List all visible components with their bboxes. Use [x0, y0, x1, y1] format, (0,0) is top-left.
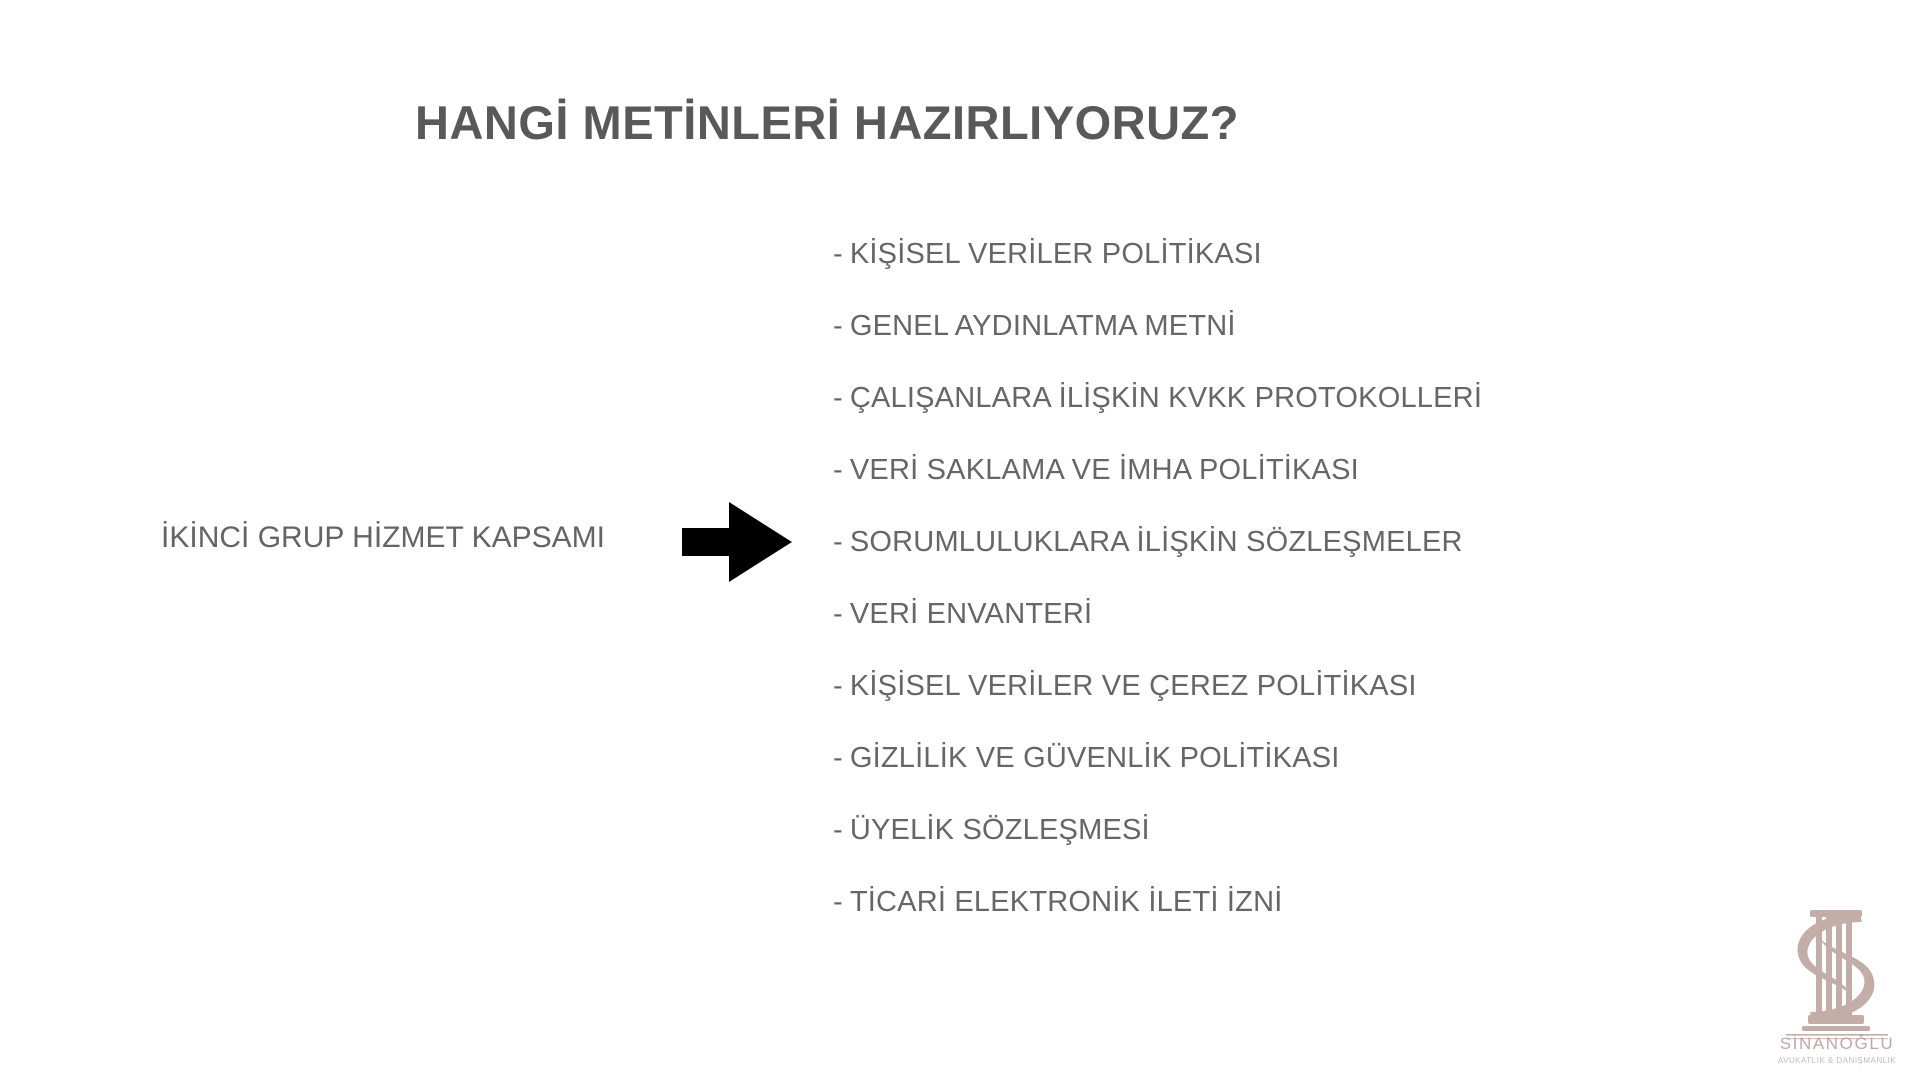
list-item-label: KİŞİSEL VERİLER VE ÇEREZ POLİTİKASI [850, 670, 1417, 702]
list-bullet: - [833, 600, 843, 629]
list-item-label: GENEL AYDINLATMA METNİ [850, 310, 1236, 342]
list-item-label: ÇALIŞANLARA İLİŞKİN KVKK PROTOKOLLERİ [850, 382, 1482, 414]
list-item-label: GİZLİLİK VE GÜVENLİK POLİTİKASI [850, 742, 1340, 774]
list-bullet: - [833, 744, 843, 773]
list-item: -GİZLİLİK VE GÜVENLİK POLİTİKASI [833, 744, 1833, 773]
list-item-label: TİCARİ ELEKTRONİK İLETİ İZNİ [850, 886, 1283, 918]
list-item-label: SORUMLULUKLARA İLİŞKİN SÖZLEŞMELER [850, 526, 1463, 558]
list-bullet: - [833, 816, 843, 845]
list-item: -SORUMLULUKLARA İLİŞKİN SÖZLEŞMELER [833, 528, 1833, 557]
left-caption-label: İKİNCİ GRUP HİZMET KAPSAMI [118, 521, 648, 555]
list-bullet: - [833, 384, 843, 413]
list-bullet: - [833, 240, 843, 269]
list-item-label: ÜYELİK SÖZLEŞMESİ [850, 814, 1150, 846]
company-logo: SİNANOĞLU AVUKATLIK & DANIŞMANLIK [1772, 898, 1912, 1073]
page-title: HANGİ METİNLERİ HAZIRLIYORUZ? [0, 95, 1787, 150]
list-item: -VERİ SAKLAMA VE İMHA POLİTİKASI [833, 456, 1833, 485]
logo-company-name: SİNANOĞLU [1772, 1034, 1902, 1054]
list-bullet: - [833, 528, 843, 557]
right-arrow-icon [682, 502, 792, 582]
list-item-label: VERİ ENVANTERİ [850, 598, 1092, 630]
list-item-label: KİŞİSEL VERİLER POLİTİKASI [850, 238, 1262, 270]
logo-tagline: AVUKATLIK & DANIŞMANLIK [1772, 1056, 1902, 1065]
presentation-slide: HANGİ METİNLERİ HAZIRLIYORUZ? İKİNCİ GRU… [0, 0, 1920, 1080]
sinanoglu-column-s-logo-icon [1772, 898, 1902, 1048]
list-item: -VERİ ENVANTERİ [833, 600, 1833, 629]
list-item: -KİŞİSEL VERİLER VE ÇEREZ POLİTİKASI [833, 672, 1833, 701]
document-list: -KİŞİSEL VERİLER POLİTİKASI -GENEL AYDIN… [833, 240, 1833, 960]
list-bullet: - [833, 672, 843, 701]
list-item: -ÇALIŞANLARA İLİŞKİN KVKK PROTOKOLLERİ [833, 384, 1833, 413]
list-item: -TİCARİ ELEKTRONİK İLETİ İZNİ [833, 888, 1833, 917]
list-bullet: - [833, 312, 843, 341]
list-bullet: - [833, 888, 843, 917]
list-bullet: - [833, 456, 843, 485]
list-item: -ÜYELİK SÖZLEŞMESİ [833, 816, 1833, 845]
list-item: -KİŞİSEL VERİLER POLİTİKASI [833, 240, 1833, 269]
list-item-label: VERİ SAKLAMA VE İMHA POLİTİKASI [850, 454, 1359, 486]
list-item: -GENEL AYDINLATMA METNİ [833, 312, 1833, 341]
